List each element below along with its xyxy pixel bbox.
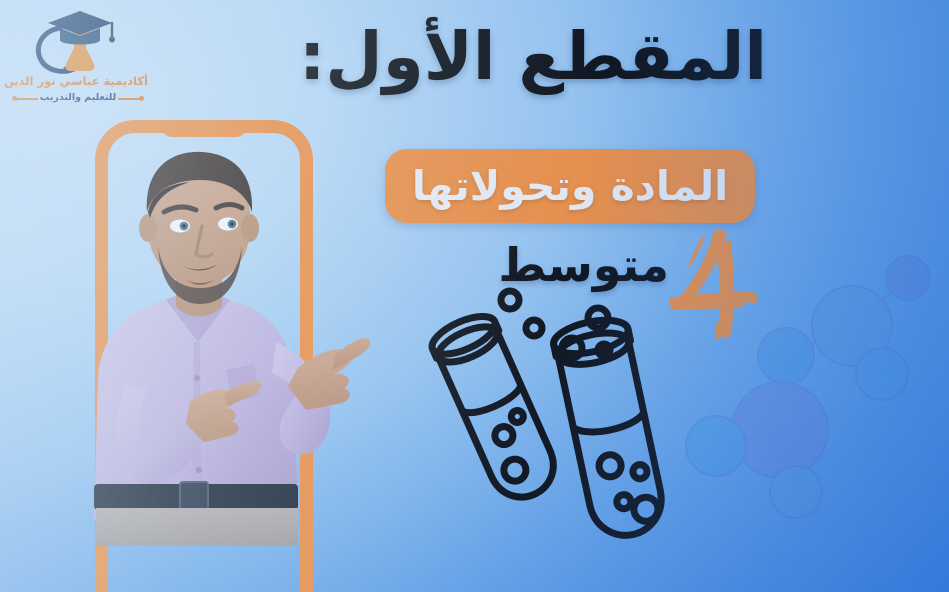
presenter-pointing-illustration <box>40 128 370 546</box>
test-tubes-icon <box>408 286 708 576</box>
page-title: المقطع الأول: <box>299 22 767 91</box>
molecule-illustration <box>690 248 949 548</box>
logo-tagline-line: للتعليم والتدريب <box>8 92 148 103</box>
subject-label: المادة وتحولاتها <box>412 162 728 210</box>
subject-badge: المادة وتحولاتها <box>385 149 755 223</box>
graduation-cap-flask-icon <box>8 6 148 76</box>
presenter-photo <box>40 128 370 546</box>
poster-canvas: أكاديمية عباسي نور الدين للتعليم والتدري… <box>0 0 949 592</box>
logo-name-line: أكاديمية عباسي نور الدين <box>8 74 148 88</box>
academy-logo: أكاديمية عباسي نور الدين للتعليم والتدري… <box>8 6 148 124</box>
test-tubes-illustration <box>408 286 708 576</box>
level-label: متوسط <box>498 238 669 292</box>
molecule-icon <box>690 248 949 548</box>
